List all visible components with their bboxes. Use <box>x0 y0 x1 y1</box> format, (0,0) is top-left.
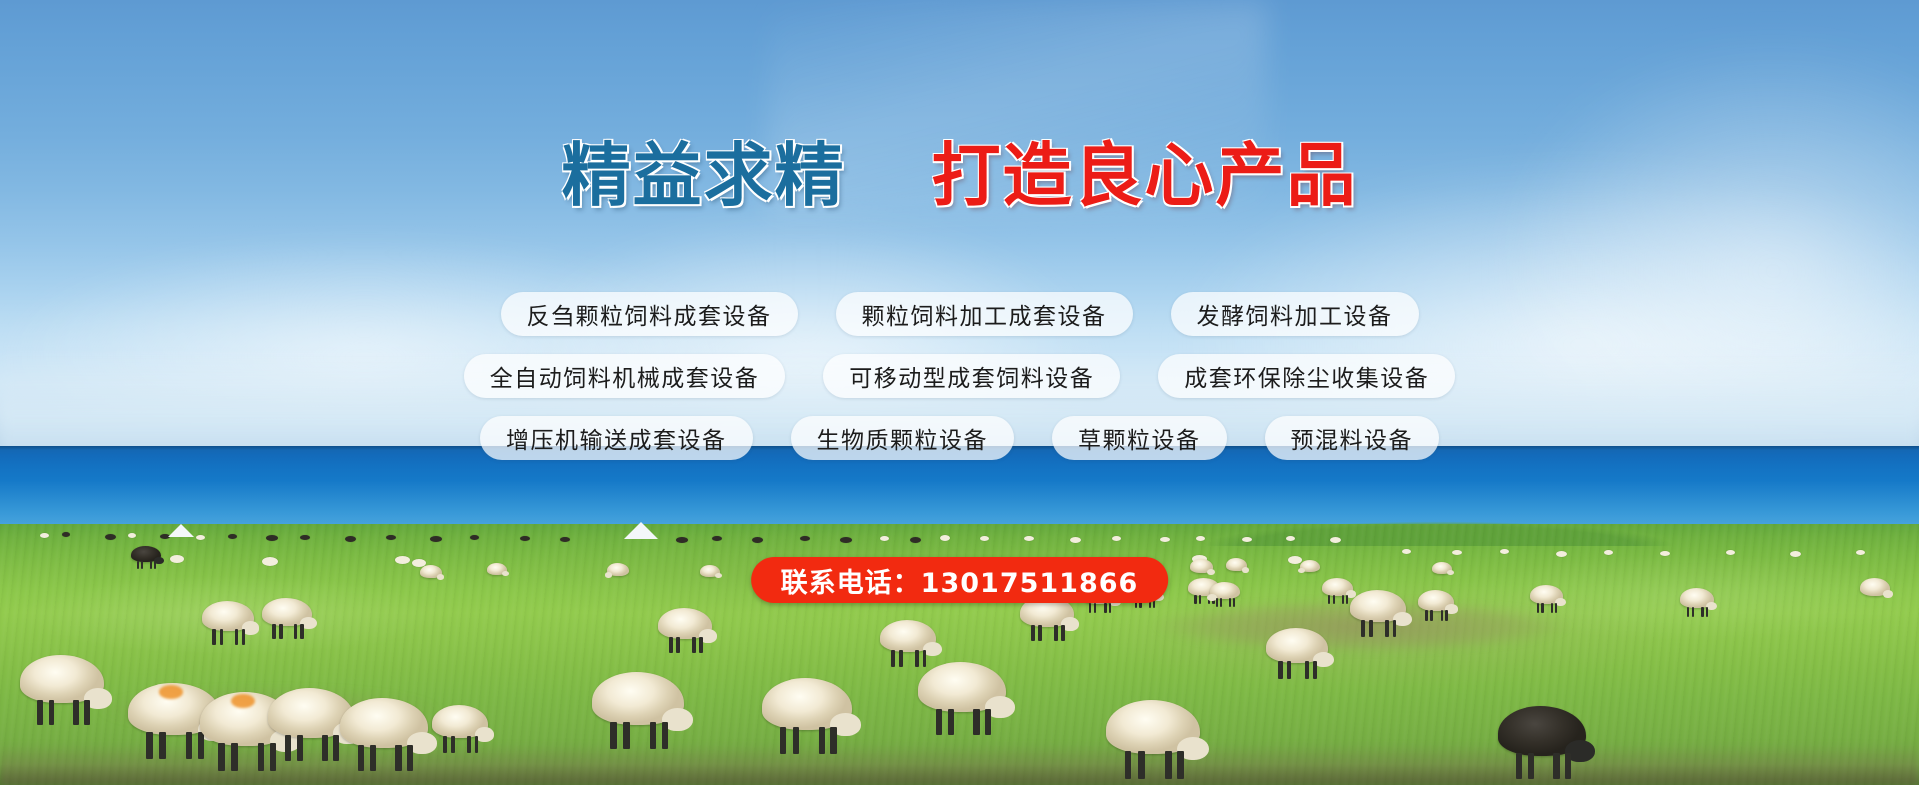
product-tag[interactable]: 草颗粒设备 <box>1052 416 1227 460</box>
distant-animal <box>520 536 530 541</box>
distant-animal <box>1024 536 1034 541</box>
sheep <box>1226 558 1247 571</box>
distant-animal <box>430 536 442 542</box>
product-tag[interactable]: 预混料设备 <box>1265 416 1440 460</box>
sheep <box>420 565 442 578</box>
distant-animal <box>300 535 310 540</box>
sheep <box>1860 578 1890 596</box>
distant-animal <box>1070 537 1081 543</box>
distant-animal <box>62 532 70 537</box>
product-tag[interactable]: 增压机输送成套设备 <box>480 416 753 460</box>
sheep <box>918 662 1006 712</box>
sheep <box>1210 582 1240 599</box>
sheep-lamb <box>432 705 488 738</box>
distant-animal <box>1242 537 1252 542</box>
product-tag[interactable]: 颗粒饲料加工成套设备 <box>836 292 1133 336</box>
distant-animal <box>752 537 763 543</box>
product-tag[interactable]: 发酵饲料加工设备 <box>1171 292 1419 336</box>
product-tag-list: 反刍颗粒饲料成套设备 颗粒饲料加工成套设备 发酵饲料加工设备 全自动饲料机械成套… <box>0 292 1919 478</box>
sheep <box>1418 590 1454 611</box>
sheep <box>700 565 720 577</box>
sheep <box>1680 588 1714 608</box>
distant-animal <box>40 533 49 538</box>
sheep-dark <box>1498 706 1586 756</box>
distant-animal <box>470 535 479 540</box>
sheep <box>262 598 312 626</box>
sheep <box>1350 590 1406 622</box>
sheep <box>1300 560 1320 572</box>
distant-animal <box>1726 550 1735 555</box>
distant-animal <box>128 533 136 538</box>
headline-red-text: 打造良心产品 <box>932 136 1358 216</box>
distant-animal <box>196 535 205 540</box>
product-tag[interactable]: 成套环保除尘收集设备 <box>1158 354 1455 398</box>
sheep <box>1530 585 1563 604</box>
distant-animal <box>386 535 396 540</box>
product-tag[interactable]: 反刍颗粒饲料成套设备 <box>501 292 798 336</box>
distant-animal <box>1160 537 1170 542</box>
distant-animal <box>1500 549 1509 554</box>
sheep <box>592 672 684 725</box>
distant-animal <box>1112 536 1121 541</box>
sheep <box>340 698 428 748</box>
sheep <box>1190 559 1213 573</box>
distant-animal <box>1286 536 1295 541</box>
distant-animal <box>910 537 921 543</box>
sheep <box>880 620 936 652</box>
distant-animal <box>800 536 810 541</box>
distant-animal <box>1452 550 1462 555</box>
sheep-dark <box>131 546 161 562</box>
product-tag-row-2: 全自动饲料机械成套设备 可移动型成套饲料设备 成套环保除尘收集设备 <box>0 354 1919 398</box>
sheep <box>658 608 712 639</box>
distant-animal <box>1556 551 1567 557</box>
product-tag[interactable]: 可移动型成套饲料设备 <box>823 354 1120 398</box>
distant-animal <box>170 555 184 563</box>
sheep <box>1266 628 1328 663</box>
distant-animal <box>1790 551 1801 557</box>
sheep <box>487 563 507 575</box>
distant-animal <box>105 534 116 540</box>
headline-blue-text: 精益求精 <box>561 136 845 216</box>
banner-headline: 精益求精 打造良心产品 <box>0 142 1919 211</box>
product-tag[interactable]: 生物质颗粒设备 <box>791 416 1015 460</box>
distant-animal <box>712 536 722 541</box>
distant-animal <box>345 536 356 542</box>
distant-animal <box>1330 537 1341 543</box>
distant-animal <box>262 557 278 566</box>
contact-phone-button[interactable]: 联系电话：13017511866 <box>751 557 1169 603</box>
bottom-shadow <box>0 764 1919 785</box>
distant-animal <box>1660 551 1670 556</box>
distant-animal <box>880 536 889 541</box>
distant-animal <box>1196 536 1205 541</box>
distant-animal <box>560 537 570 542</box>
product-tag-row-3: 增压机输送成套设备 生物质颗粒设备 草颗粒设备 预混料设备 <box>0 416 1919 460</box>
promo-banner: 精益求精 打造良心产品 反刍颗粒饲料成套设备 颗粒饲料加工成套设备 发酵饲料加工… <box>0 0 1919 785</box>
distant-animal <box>1604 550 1613 555</box>
sheep <box>20 655 104 703</box>
sheep <box>1322 578 1353 596</box>
distant-animal <box>1402 549 1411 554</box>
distant-animal <box>940 535 950 541</box>
product-tag[interactable]: 全自动饲料机械成套设备 <box>464 354 786 398</box>
product-tag-row-1: 反刍颗粒饲料成套设备 颗粒饲料加工成套设备 发酵饲料加工设备 <box>0 292 1919 336</box>
sheep <box>1106 700 1200 754</box>
distant-animal <box>980 536 989 541</box>
distant-animal <box>676 537 688 543</box>
sheep <box>607 563 629 576</box>
distant-animal <box>1856 550 1865 555</box>
distant-animal <box>266 535 278 541</box>
sheep <box>1432 562 1452 574</box>
sheep <box>202 601 254 631</box>
sheep <box>762 678 852 730</box>
distant-animal <box>228 534 237 539</box>
distant-animal <box>840 537 852 543</box>
distant-animal <box>395 556 410 564</box>
